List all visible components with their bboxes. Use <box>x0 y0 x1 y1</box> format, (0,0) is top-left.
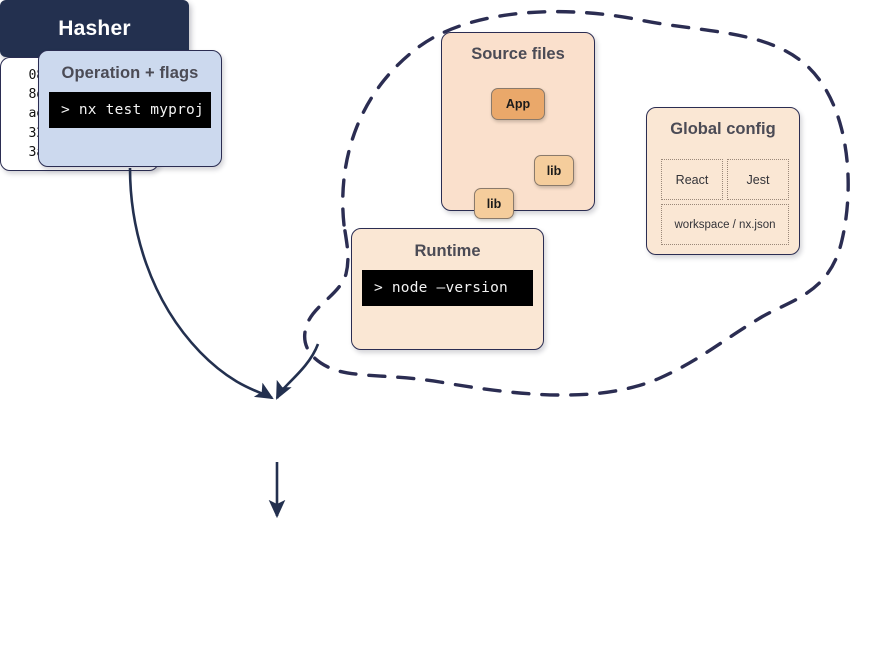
source-node-app: App <box>491 88 545 120</box>
config-item-react: React <box>661 159 723 200</box>
source-files-card: Source files App lib lib <box>441 32 595 211</box>
runtime-command-text: > node –version <box>374 280 508 296</box>
runtime-title: Runtime <box>352 229 543 261</box>
operation-flags-card: Operation + flags > nx test myproj <box>38 50 222 167</box>
config-item-jest: Jest <box>727 159 789 200</box>
global-config-card: Global config React Jest workspace / nx.… <box>646 107 800 255</box>
operation-flags-title: Operation + flags <box>39 51 221 83</box>
diagram-canvas: Operation + flags > nx test myproj Sourc… <box>0 0 880 654</box>
arrow-inputs-to-hasher <box>277 344 318 398</box>
hasher-box: Hasher <box>0 0 189 57</box>
source-files-title: Source files <box>442 33 594 64</box>
operation-command-text: > nx test myproj <box>61 102 204 118</box>
hasher-label: Hasher <box>58 17 130 41</box>
global-config-title: Global config <box>647 108 799 139</box>
operation-terminal: > nx test myproj <box>49 92 211 128</box>
config-item-workspace: workspace / nx.json <box>661 204 789 245</box>
arrow-operation-to-hasher <box>130 168 272 398</box>
runtime-card: Runtime > node –version <box>351 228 544 350</box>
source-node-lib-right: lib <box>534 155 574 186</box>
runtime-terminal: > node –version <box>362 270 533 306</box>
source-node-lib-left: lib <box>474 188 514 219</box>
